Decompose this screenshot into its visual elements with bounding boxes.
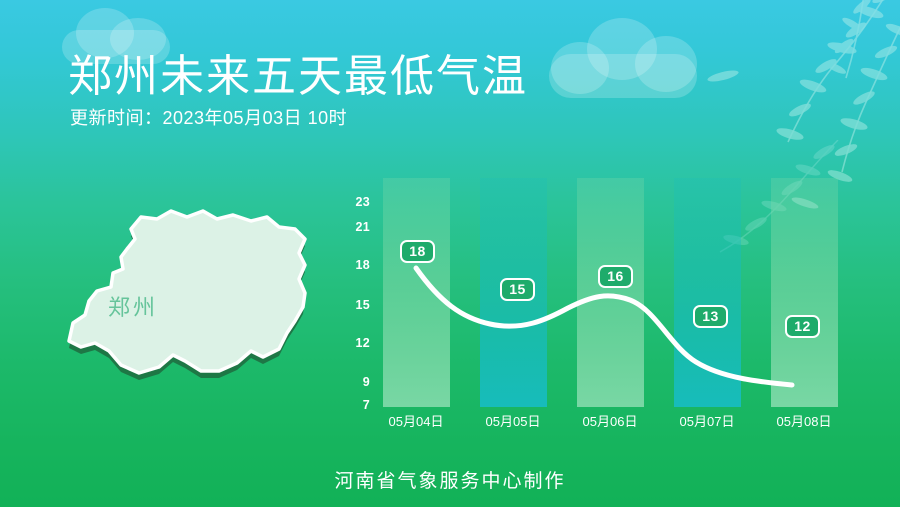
data-point-badge: 18 <box>400 240 435 263</box>
y-axis-tick: 7 <box>344 398 370 412</box>
y-axis-tick: 21 <box>344 220 370 234</box>
chart-column <box>383 178 450 407</box>
chart-column <box>771 178 838 407</box>
temperature-chart: 23 21 18 15 12 9 7 18 15 16 13 12 05月04日… <box>340 178 840 428</box>
page-title: 郑州未来五天最低气温 <box>68 40 528 104</box>
weather-poster: 郑州未来五天最低气温 更新时间：2023年05月03日 10时 郑州 23 21… <box>0 0 900 507</box>
chart-column <box>674 178 741 407</box>
footer-credit: 河南省气象服务中心制作 <box>0 466 900 493</box>
y-axis-tick: 12 <box>344 336 370 350</box>
data-point-badge: 12 <box>785 315 820 338</box>
y-axis-tick: 9 <box>344 375 370 389</box>
data-point-badge: 16 <box>598 265 633 288</box>
y-axis-tick: 23 <box>344 195 370 209</box>
y-axis-tick: 15 <box>344 298 370 312</box>
x-axis-tick: 05月08日 <box>754 411 854 430</box>
data-point-badge: 13 <box>693 305 728 328</box>
y-axis-tick: 18 <box>344 258 370 272</box>
x-axis-tick: 05月06日 <box>560 411 660 430</box>
x-axis-tick: 05月07日 <box>657 411 757 430</box>
cloud-icon <box>545 18 705 100</box>
city-label-zhengzhou: 郑州 <box>108 290 158 322</box>
x-axis-tick: 05月05日 <box>463 411 563 430</box>
henan-province-map <box>55 195 345 400</box>
x-axis-tick: 05月04日 <box>366 411 466 430</box>
chart-column <box>577 178 644 407</box>
leaf-icon <box>706 68 740 84</box>
update-time-text: 更新时间：2023年05月03日 10时 <box>70 104 347 130</box>
map-shape <box>55 195 345 400</box>
data-point-badge: 15 <box>500 278 535 301</box>
